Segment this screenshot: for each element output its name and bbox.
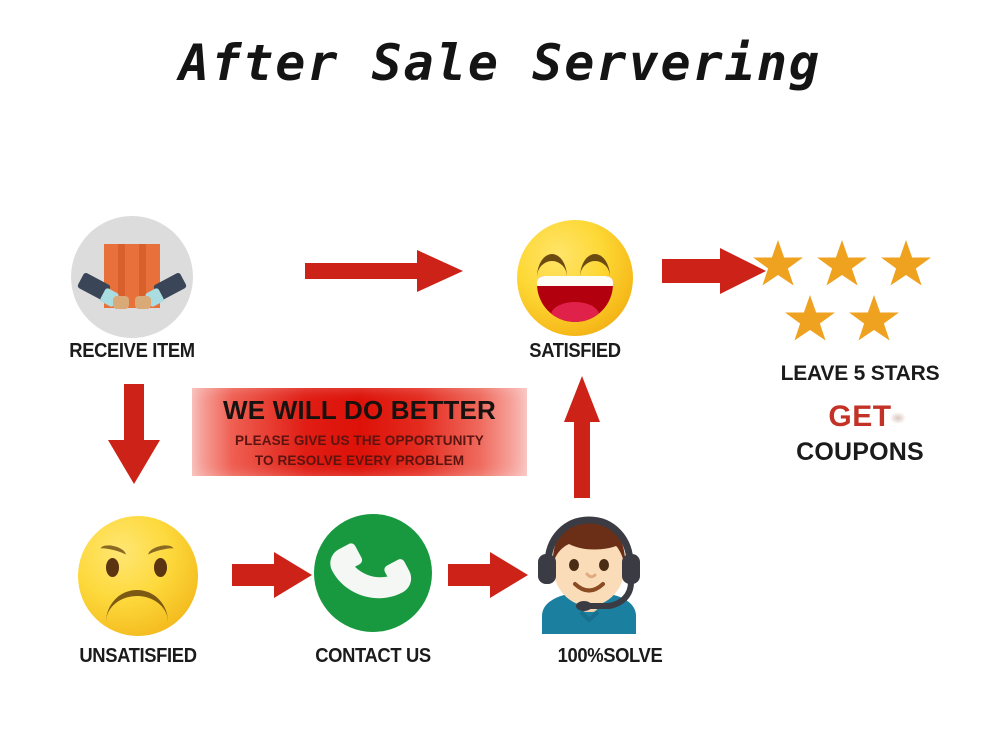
smudge-artifact — [890, 412, 906, 424]
star-4 — [784, 295, 836, 345]
tongue-shape — [551, 302, 599, 322]
happy-eye-left — [537, 254, 567, 277]
arrow-receive-to-satisfied — [305, 248, 465, 294]
arrow-solve-to-satisfied — [554, 376, 610, 500]
label-coupons: COUPONS — [726, 438, 994, 467]
hand-left-shape — [113, 296, 129, 309]
label-get: GET — [726, 400, 994, 434]
star-2 — [816, 240, 868, 290]
parcel-handoff-icon — [71, 216, 193, 338]
label-contact-us: CONTACT US — [272, 645, 474, 668]
happy-mouth — [537, 276, 613, 322]
label-100-percent-solve: 100%SOLVE — [509, 645, 711, 668]
teeth-shape — [537, 276, 613, 286]
happy-face-icon — [517, 220, 633, 336]
we-will-do-better-banner: WE WILL DO BETTER PLEASE GIVE US THE OPP… — [192, 388, 527, 476]
star-3 — [880, 240, 932, 290]
arrow-satisfied-to-stars — [662, 248, 768, 294]
label-satisfied: SATISFIED — [474, 340, 676, 363]
sad-eye-left — [106, 558, 119, 577]
poster-canvas: After Sale Servering RECEIVE ITEM SATISF… — [0, 0, 1000, 750]
label-leave-5-stars: LEAVE 5 STARS — [726, 362, 994, 386]
five-stars-icon — [752, 240, 964, 350]
happy-eye-right — [580, 254, 610, 277]
phone-icon — [314, 514, 432, 632]
sad-face-icon — [78, 516, 198, 636]
page-title: After Sale Servering — [0, 34, 1000, 92]
support-agent-icon — [524, 508, 654, 634]
banner-headline: WE WILL DO BETTER — [192, 395, 527, 426]
arrow-contact-to-solve — [448, 552, 530, 598]
banner-line-2: TO RESOLVE EVERY PROBLEM — [197, 452, 522, 468]
sad-mouth — [106, 590, 168, 622]
star-5 — [848, 295, 900, 345]
sad-eye-right — [154, 558, 167, 577]
arrow-unsatisfied-to-contact — [232, 552, 314, 598]
label-receive-item: RECEIVE ITEM — [31, 340, 233, 363]
hand-right-shape — [135, 296, 151, 309]
banner-line-1: PLEASE GIVE US THE OPPORTUNITY — [197, 432, 522, 448]
arrow-receive-to-unsatisfied — [104, 384, 164, 486]
label-unsatisfied: UNSATISFIED — [37, 645, 239, 668]
